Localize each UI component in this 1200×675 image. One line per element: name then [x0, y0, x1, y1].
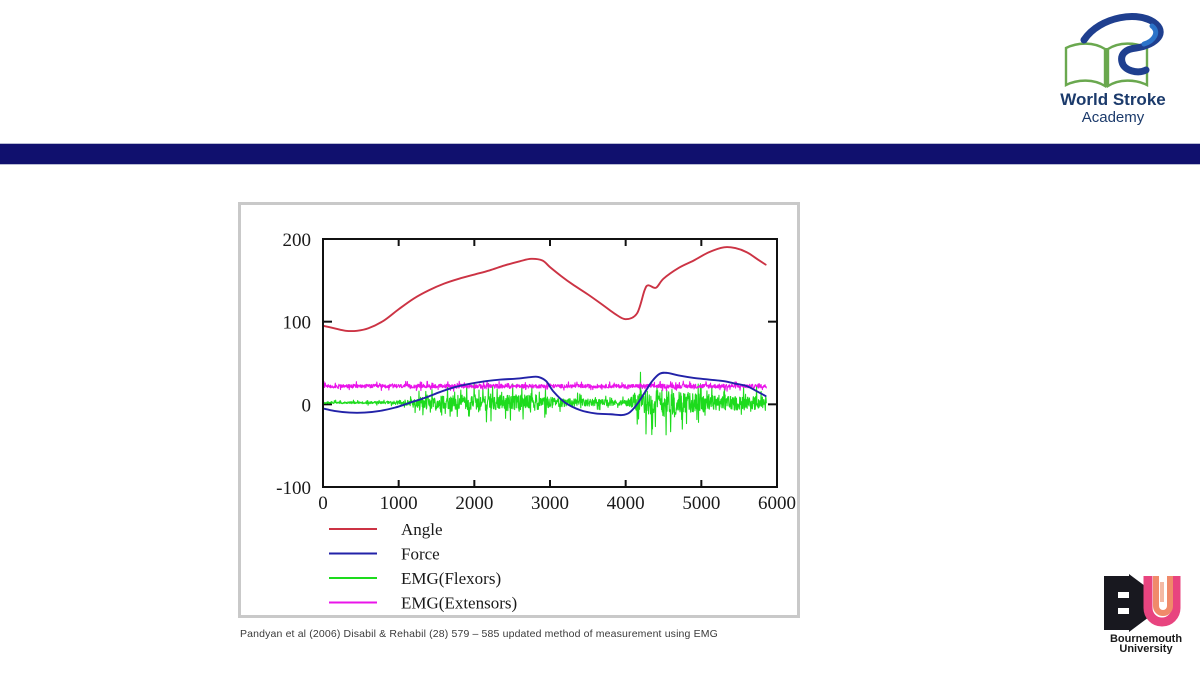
y-tick-label: 200 [283, 230, 312, 251]
y-tick-label: 100 [283, 313, 312, 334]
bu-logo-line2: University [1119, 643, 1173, 654]
header-divider-bar [0, 143, 1200, 165]
legend-label-2: EMG(Flexors) [401, 569, 501, 588]
x-tick-label: 1000 [380, 493, 418, 514]
slide-canvas: World Stroke Academy 0100020003000400050… [0, 0, 1200, 675]
bu-mark-icon [1104, 576, 1176, 630]
series-line-emg-flexors [323, 372, 766, 435]
figure-panel: 0100020003000400050006000-1000100200Angl… [238, 202, 800, 618]
x-tick-label: 2000 [455, 493, 493, 514]
legend-label-1: Force [401, 545, 440, 564]
legend-label-0: Angle [401, 520, 443, 539]
bournemouth-university-logo: Bournemouth University [1100, 572, 1192, 654]
measurement-chart: 0100020003000400050006000-1000100200Angl… [241, 205, 797, 615]
series-line-angle [323, 247, 766, 331]
y-tick-label: 0 [302, 395, 312, 416]
y-tick-label: -100 [276, 478, 311, 499]
figure-caption: Pandyan et al (2006) Disabil & Rehabil (… [240, 628, 860, 640]
x-tick-label: 0 [318, 493, 328, 514]
wsa-logo-line2: Academy [1082, 109, 1145, 126]
x-tick-label: 3000 [531, 493, 569, 514]
legend-label-3: EMG(Extensors) [401, 594, 517, 613]
x-tick-label: 6000 [758, 493, 796, 514]
wsa-logo-line1: World Stroke [1060, 90, 1165, 109]
plot-frame [323, 239, 777, 487]
world-stroke-academy-logo: World Stroke Academy [1048, 8, 1178, 126]
x-tick-label: 4000 [607, 493, 645, 514]
x-tick-label: 5000 [682, 493, 720, 514]
